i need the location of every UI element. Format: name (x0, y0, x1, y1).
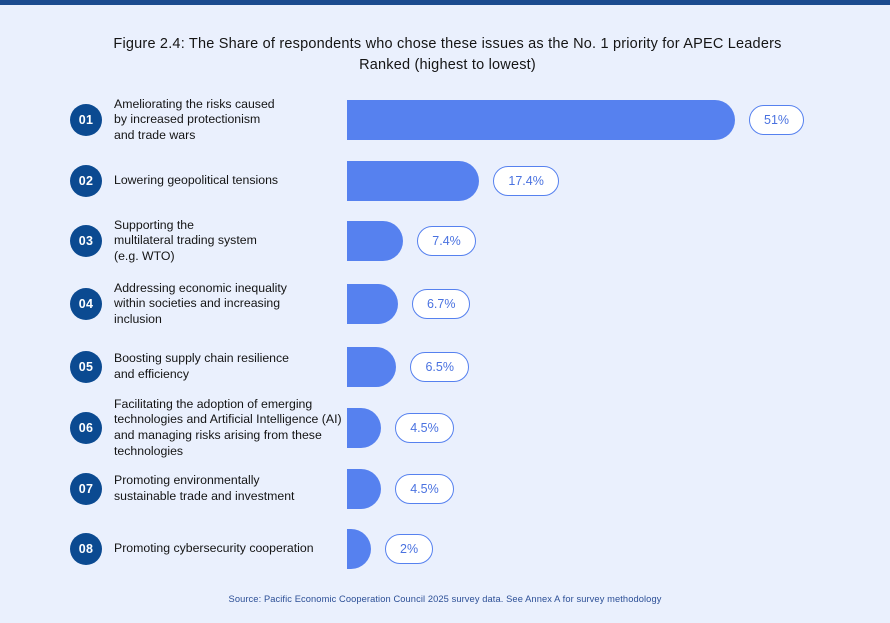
issue-label-line: multilateral trading system (114, 233, 354, 249)
value-pill: 51% (749, 105, 804, 135)
bar (347, 284, 398, 324)
issue-label: Supporting themultilateral trading syste… (114, 218, 354, 265)
rank-badge: 04 (70, 288, 102, 320)
issue-label-line: Promoting environmentally (114, 473, 354, 489)
title-line-1: Figure 2.4: The Share of respondents who… (60, 34, 835, 55)
rank-badge: 02 (70, 165, 102, 197)
issue-label-line: Boosting supply chain resilience (114, 351, 354, 367)
issue-label: Boosting supply chain resilienceand effi… (114, 351, 354, 382)
bar (347, 161, 479, 201)
bar-container (347, 221, 403, 261)
value-pill: 7.4% (417, 226, 476, 256)
rank-badge: 06 (70, 412, 102, 444)
bar-container (347, 100, 735, 140)
value-pill: 4.5% (395, 413, 454, 443)
issue-label-line: technologies and Artificial Intelligence… (114, 412, 354, 428)
issue-label-line: Addressing economic inequality (114, 281, 354, 297)
rank-badge: 08 (70, 533, 102, 565)
bar (347, 100, 735, 140)
issue-label-line: technologies (114, 444, 354, 460)
issue-label: Ameliorating the risks causedby increase… (114, 97, 354, 144)
issue-label-line: Lowering geopolitical tensions (114, 173, 354, 189)
issue-label: Promoting environmentallysustainable tra… (114, 473, 354, 504)
value-pill: 6.5% (410, 352, 469, 382)
bar (347, 221, 403, 261)
issue-label: Facilitating the adoption of emergingtec… (114, 397, 354, 459)
value-pill: 4.5% (395, 474, 454, 504)
bar (347, 529, 371, 569)
page-title: Figure 2.4: The Share of respondents who… (60, 34, 835, 76)
bar-container (347, 469, 381, 509)
value-pill: 2% (385, 534, 433, 564)
issue-label-line: Ameliorating the risks caused (114, 97, 354, 113)
bar-container (347, 347, 396, 387)
bar (347, 408, 381, 448)
issue-label-line: and efficiency (114, 367, 354, 383)
issue-label-line: and managing risks arising from these (114, 428, 354, 444)
value-pill: 6.7% (412, 289, 471, 319)
bar-container (347, 284, 398, 324)
issue-label: Lowering geopolitical tensions (114, 173, 354, 189)
rank-badge: 01 (70, 104, 102, 136)
value-pill: 17.4% (493, 166, 558, 196)
issue-label-line: Promoting cybersecurity cooperation (114, 541, 354, 557)
issue-label-line: sustainable trade and investment (114, 489, 354, 505)
rank-badge: 03 (70, 225, 102, 257)
bar-container (347, 529, 371, 569)
top-rule (0, 0, 890, 5)
bar (347, 347, 396, 387)
issue-label-line: by increased protectionism (114, 112, 354, 128)
bar-container (347, 408, 381, 448)
issue-label: Promoting cybersecurity cooperation (114, 541, 354, 557)
rank-badge: 05 (70, 351, 102, 383)
source-note: Source: Pacific Economic Cooperation Cou… (0, 594, 890, 604)
issue-label-line: inclusion (114, 312, 354, 328)
issue-label-line: within societies and increasing (114, 296, 354, 312)
issue-label-line: and trade wars (114, 128, 354, 144)
issue-label: Addressing economic inequalitywithin soc… (114, 281, 354, 328)
issue-label-line: (e.g. WTO) (114, 249, 354, 265)
bar-container (347, 161, 479, 201)
issue-label-line: Facilitating the adoption of emerging (114, 397, 354, 413)
bar (347, 469, 381, 509)
title-line-2: Ranked (highest to lowest) (60, 55, 835, 76)
rank-badge: 07 (70, 473, 102, 505)
issue-label-line: Supporting the (114, 218, 354, 234)
